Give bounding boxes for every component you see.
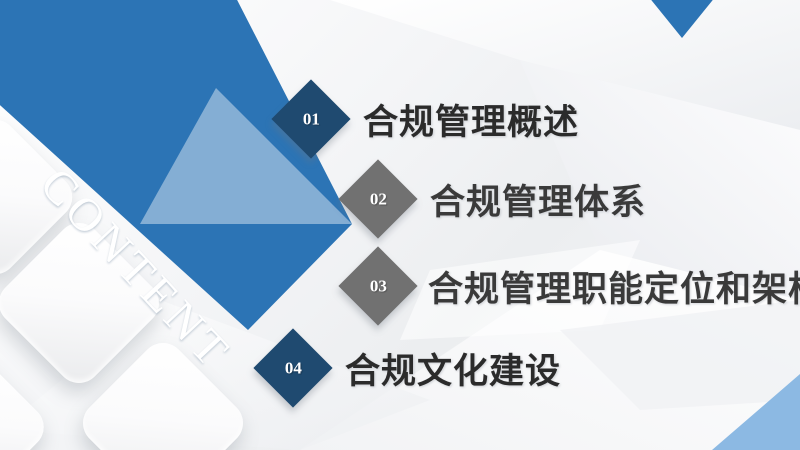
agenda-item-02[interactable]: 02 合规管理体系 xyxy=(350,171,646,227)
agenda-number-badge-02: 02 xyxy=(338,159,417,238)
agenda-label-02: 合规管理体系 xyxy=(430,174,646,225)
agenda-label-03: 合规管理职能定位和架构 xyxy=(428,261,800,312)
agenda-number-badge-04: 04 xyxy=(253,328,332,407)
agenda-item-04[interactable]: 04 合规文化建设 xyxy=(265,340,561,396)
agenda-number-badge-01: 01 xyxy=(271,79,350,158)
agenda-number-04: 04 xyxy=(285,358,302,378)
agenda-label-01: 合规管理概述 xyxy=(363,94,579,145)
agenda-number-badge-03: 03 xyxy=(338,246,417,325)
agenda-list: 01 合规管理概述 02 合规管理体系 03 合规管理职能定位和架构 04 合规… xyxy=(0,0,800,450)
agenda-item-03[interactable]: 03 合规管理职能定位和架构 xyxy=(350,258,800,314)
agenda-label-04: 合规文化建设 xyxy=(345,343,561,394)
agenda-item-01[interactable]: 01 合规管理概述 xyxy=(283,91,579,147)
slide-canvas: CONTENT 01 合规管理概述 02 合规管理体系 03 合规管理职能定位和… xyxy=(0,0,800,450)
agenda-number-02: 02 xyxy=(370,189,387,209)
agenda-number-01: 01 xyxy=(303,109,320,129)
agenda-number-03: 03 xyxy=(370,276,387,296)
